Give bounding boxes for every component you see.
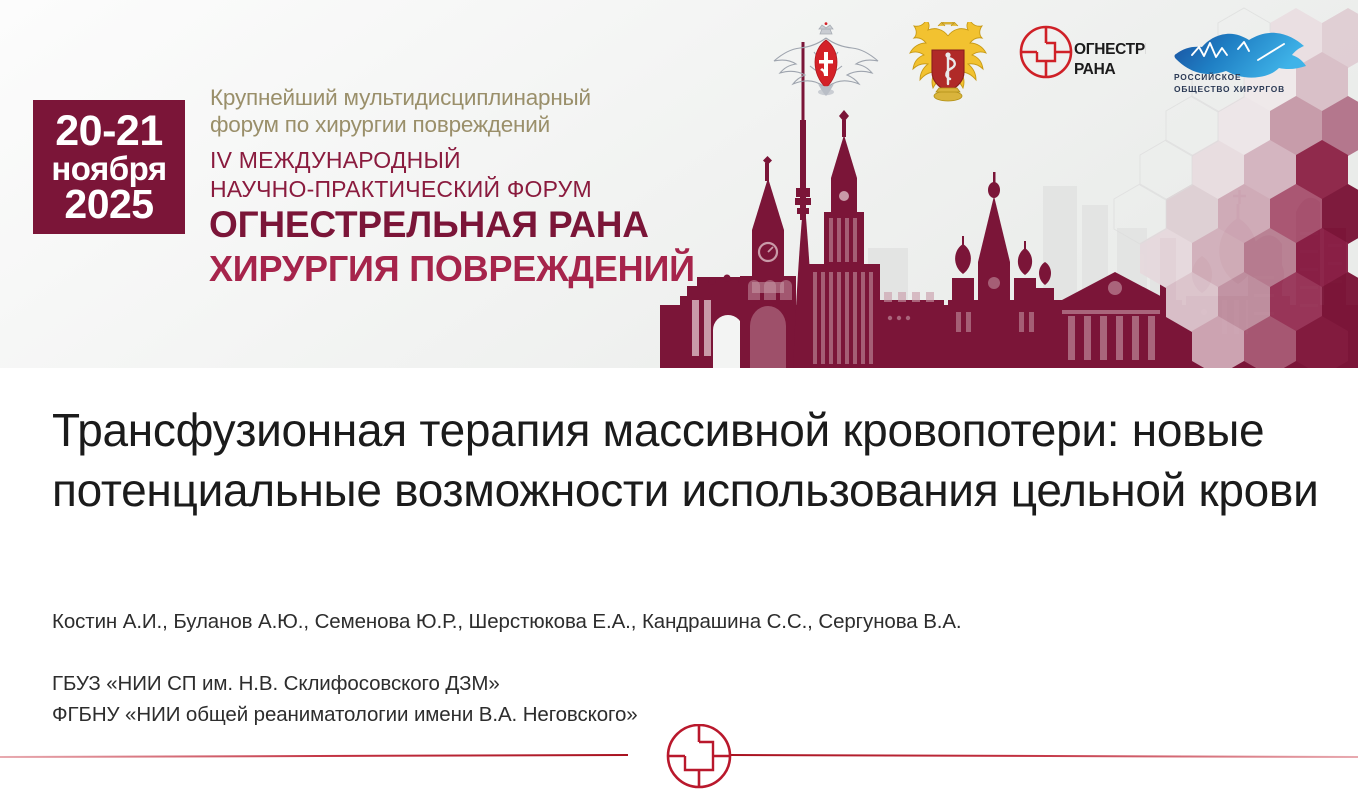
forum-title: ОГНЕСТРЕЛЬНАЯ РАНА: [209, 204, 649, 246]
ros-logo-line2: ОБЩЕСТВО ХИРУРГОВ: [1174, 84, 1285, 94]
date-day: 20-21: [55, 111, 162, 153]
gunshot-logo-line2: РАНА: [1074, 61, 1115, 78]
forum-tagline: Крупнейший мультидисциплинарный форум по…: [210, 84, 591, 139]
slide-title: Трансфузионная терапия массивной кровопо…: [52, 400, 1322, 521]
affiliations-list: ГБУЗ «НИИ СП им. Н.В. Склифосовского ДЗМ…: [52, 668, 1312, 731]
gunshot-logo-line1: ОГНЕСТРЕЛЬНАЯ: [1074, 41, 1146, 58]
ros-logo-line1: РОССИЙСКОЕ: [1174, 71, 1241, 82]
ministry-of-health-emblem-icon: [902, 22, 994, 104]
kremlin-wall: [880, 292, 944, 368]
gunshot-wound-circle-emblem-icon: [668, 725, 730, 787]
forum-subtitle: ХИРУРГИЯ ПОВРЕЖДЕНИЙ: [209, 249, 695, 290]
authors-list: Костин А.И., Буланов А.Ю., Семенова Ю.Р.…: [52, 610, 1312, 634]
header-banner: 20-21 ноября 2025 Крупнейший мультидисци…: [0, 0, 1358, 368]
forum-kicker: IV МЕЖДУНАРОДНЫЙ НАУЧНО-ПРАКТИЧЕСКИЙ ФОР…: [210, 146, 592, 204]
date-year: 2025: [64, 185, 153, 225]
slide-footer: [0, 724, 1358, 795]
ministry-of-defense-emblem-icon: [770, 22, 882, 100]
footer-graphics: [0, 724, 1358, 795]
gunshot-wound-logo-icon: ОГНЕСТРЕЛЬНАЯ РАНА: [1016, 22, 1146, 94]
presentation-slide: 20-21 ноября 2025 Крупнейший мультидисци…: [0, 0, 1358, 795]
logo-row: ОГНЕСТРЕЛЬНАЯ РАНА: [770, 22, 1316, 108]
russian-society-of-surgeons-logo-icon: РОССИЙСКОЕ ОБЩЕСТВО ХИРУРГОВ: [1166, 22, 1316, 100]
date-badge: 20-21 ноября 2025: [33, 100, 185, 234]
